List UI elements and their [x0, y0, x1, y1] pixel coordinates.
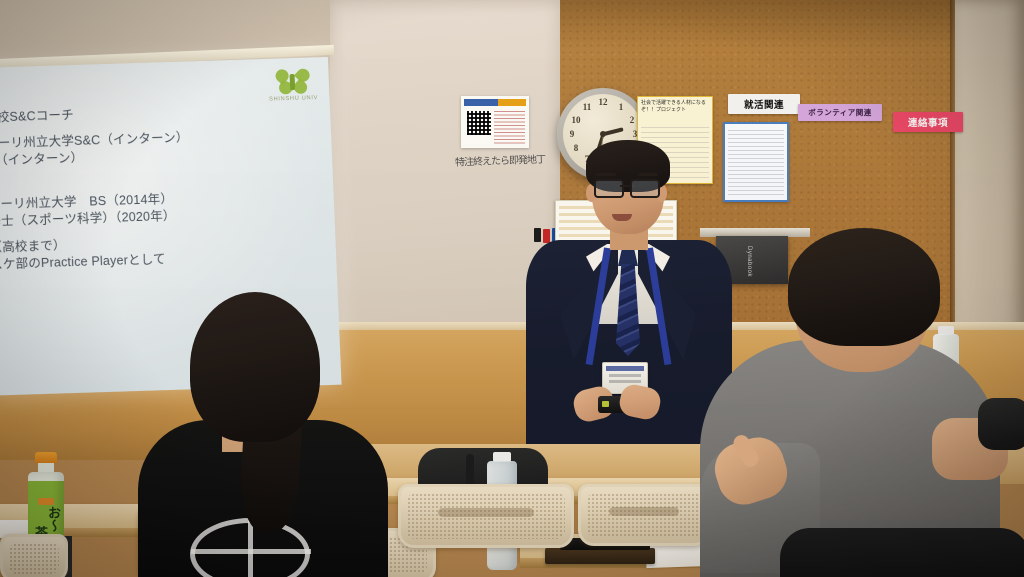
- banner-notices: 連絡事項: [893, 112, 963, 132]
- poster-title: 社会で活躍できる人材になるぞ！！プロジェクト: [638, 97, 712, 114]
- poster-header-band: [464, 99, 526, 106]
- eyebrow-left: [596, 173, 616, 176]
- photo-scene: SHINSHU UNIV 高校S&Cコーチ ズーリ州立大学S&C（インターン） …: [0, 0, 1024, 577]
- chair-mesh: [9, 543, 59, 574]
- slide-text-block: 高校S&Cコーチ ズーリ州立大学S&C（インターン） C（インターン） ） ズー…: [0, 101, 342, 276]
- student-hair: [190, 292, 320, 442]
- dark-sleeve: [978, 398, 1024, 450]
- slide-line: 高校S&Cコーチ: [0, 101, 336, 125]
- badge-text-line: [609, 374, 641, 377]
- chair-handle-slot: [438, 508, 533, 517]
- attendee-student-left: [150, 292, 380, 577]
- bottle-top-chip: [38, 498, 54, 505]
- clock-numeral: 1: [615, 102, 627, 112]
- clock-numeral: 11: [581, 102, 593, 112]
- clock-numeral: 12: [597, 97, 609, 107]
- slide-logo: SHINSHU UNIV: [272, 67, 313, 104]
- chair-backrest: [0, 534, 68, 577]
- attendee-far-right: [930, 380, 1024, 540]
- banner-job-hunting: 就活関連: [728, 94, 800, 114]
- qr-code-icon: [467, 111, 491, 135]
- clock-numeral: 9: [566, 129, 578, 139]
- book-on-desk: [545, 548, 655, 564]
- badge-header-strip: [606, 366, 644, 371]
- clover-leaf-icon: [275, 68, 310, 95]
- eyeglasses-icon: [594, 179, 660, 194]
- poster-body-lines: [728, 130, 784, 197]
- badge-text-line: [609, 380, 641, 383]
- lens-right: [630, 179, 660, 198]
- chair-handle-slot: [609, 507, 680, 516]
- chair-backrest: [578, 484, 710, 546]
- chair-backrest: [398, 484, 574, 548]
- clock-numeral: 10: [570, 115, 582, 125]
- clock-center-pin: [600, 131, 606, 137]
- eyebrow-right: [638, 173, 658, 176]
- lens-left: [594, 179, 624, 198]
- student-hair: [788, 228, 940, 346]
- banner-volunteer: ボランティア関連: [798, 104, 882, 121]
- qr-code-poster: [461, 96, 529, 148]
